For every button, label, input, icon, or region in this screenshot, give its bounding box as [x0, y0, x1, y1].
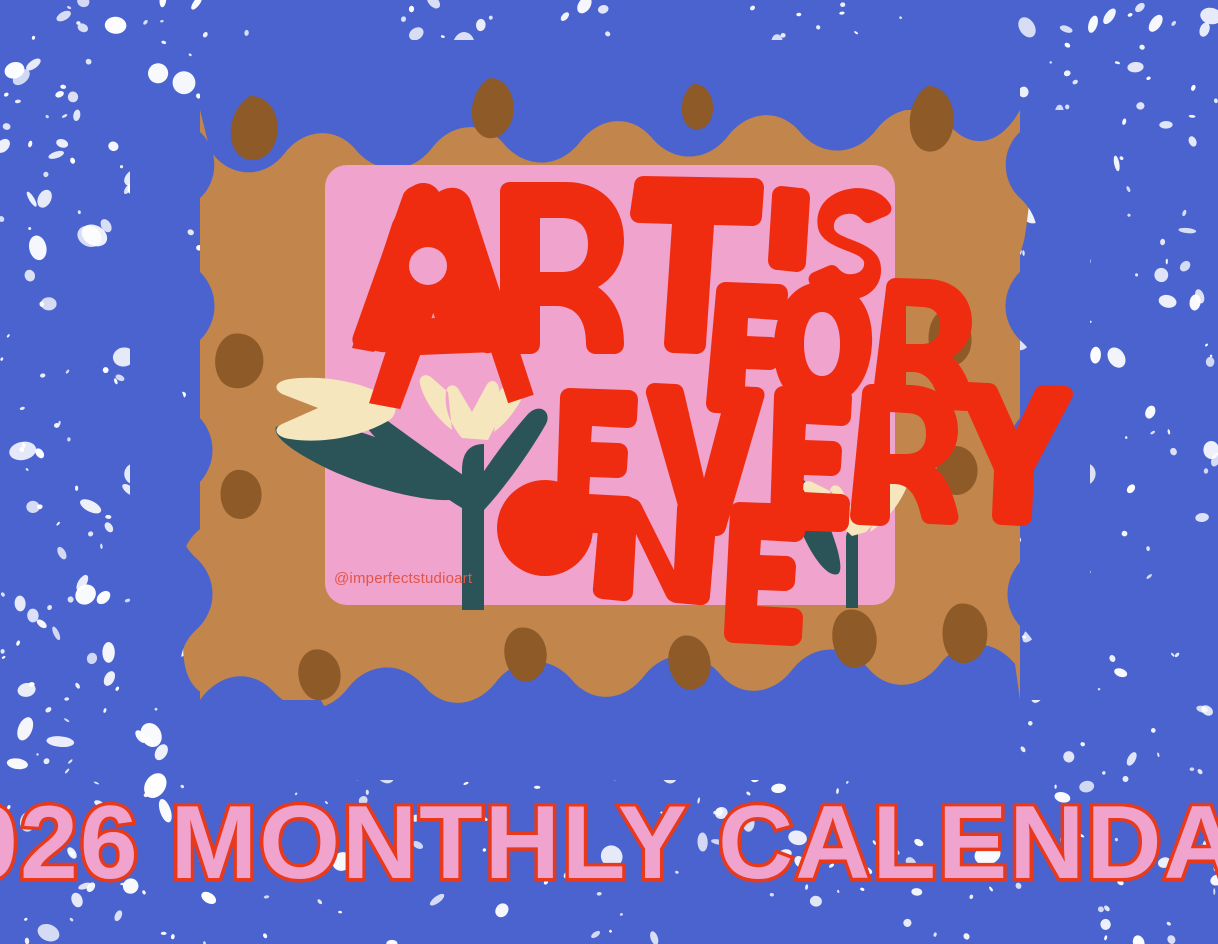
calendar-cover: @imperfectstudioart 2026 MONTHLY CALENDA… — [0, 0, 1218, 944]
title-layer: 2026 MONTHLY CALENDAR — [0, 0, 1218, 944]
page-title: 2026 MONTHLY CALENDAR — [0, 785, 1218, 901]
